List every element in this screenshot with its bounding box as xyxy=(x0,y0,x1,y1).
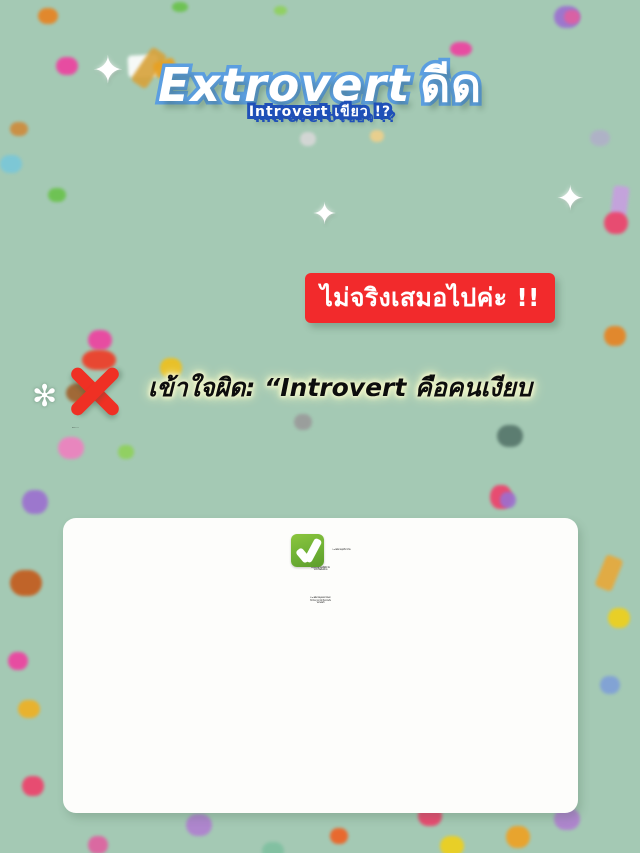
confetti-dot xyxy=(370,130,384,142)
green-check-icon xyxy=(291,534,324,567)
x-mark-icon xyxy=(64,360,126,422)
confetti-dot xyxy=(300,132,316,146)
info-card: I = พลังงานมุ่งเข้าภายใน ชอบอยู่กับตัวเอ… xyxy=(63,518,578,813)
confetti-dot xyxy=(22,490,48,514)
confetti-dot xyxy=(594,554,623,592)
confetti-dot xyxy=(10,570,42,596)
confetti-dot xyxy=(330,828,348,844)
confetti-dot xyxy=(604,212,628,234)
confetti-dot xyxy=(490,485,512,509)
title-line2-thai: เขียว !? xyxy=(334,104,391,120)
title-line1-thai: ดีด xyxy=(420,58,482,112)
confetti-dot xyxy=(48,188,66,202)
sparkle-icon: ✻ xyxy=(32,382,57,412)
confetti-dot xyxy=(450,42,472,56)
misconception-decorations: ✻ xyxy=(30,368,148,424)
confetti-dot xyxy=(58,437,84,459)
card-block-introvert: I = พลังงานมุ่งเข้าภายใน ชอบอยู่กับตัวเอ… xyxy=(77,534,564,571)
confetti-dot xyxy=(554,6,580,28)
sparkle-icon: ✦ xyxy=(556,182,585,216)
introvert-line-1: I = พลังงานมุ่งเข้าภายใน xyxy=(333,549,351,551)
confetti-dot xyxy=(88,330,112,350)
card-block-extrovert: E = พลังงานมุ่งออกภายนอก รีชาร์จจากการทำ… xyxy=(77,597,564,604)
sparkle-icon: ✦ xyxy=(312,200,337,230)
poster-canvas: ✦✦✦ Extrovertดีด Introvert เขียว !? ไม่จ… xyxy=(0,0,640,853)
confetti-dot xyxy=(500,492,516,508)
confetti-dot xyxy=(88,836,108,853)
introvert-line-1-row: I = พลังงานมุ่งเข้าภายใน xyxy=(77,534,564,567)
confetti-dot xyxy=(18,700,40,718)
red-banner: ไม่จริงเสมอไปค่ะ !! xyxy=(305,273,555,323)
misconception-block: ✻ เข้าใจผิด: “Introvert คือคนเงียบ Extro… xyxy=(0,368,640,429)
confetti-dot xyxy=(506,826,530,848)
confetti-dot xyxy=(610,185,630,217)
confetti-dot xyxy=(274,6,287,15)
confetti-dot xyxy=(604,326,626,346)
misconception-row: ✻ เข้าใจผิด: “Introvert คือคนเงียบ xyxy=(0,368,640,424)
confetti-dot xyxy=(0,155,22,173)
confetti-dot xyxy=(440,836,464,853)
title-block: Extrovertดีด Introvert เขียว !? xyxy=(0,62,640,120)
confetti-dot xyxy=(8,652,28,670)
confetti-dot xyxy=(38,8,58,24)
confetti-dot xyxy=(172,2,188,12)
confetti-dot xyxy=(608,608,630,628)
confetti-dot xyxy=(118,445,134,459)
title-line-2: Introvert เขียว !? xyxy=(0,105,640,120)
confetti-dot xyxy=(186,814,212,836)
confetti-dot xyxy=(22,776,44,796)
confetti-dot xyxy=(262,842,284,853)
confetti-dot xyxy=(10,122,28,136)
introvert-line-3: ไม่จำเป็นต้องขี้อาย xyxy=(77,569,564,571)
title-line2-english: Introvert xyxy=(249,104,329,120)
misconception-line-1: เข้าใจผิด: “Introvert คือคนเงียบ xyxy=(148,368,532,408)
confetti-dot xyxy=(600,676,620,694)
confetti-dot xyxy=(564,10,580,24)
red-banner-text: ไม่จริงเสมอไปค่ะ !! xyxy=(320,278,540,318)
extrovert-line-3: โลกรอบตัว xyxy=(77,602,564,604)
title-line-1: Extrovertดีด xyxy=(0,62,640,109)
confetti-dot xyxy=(590,130,610,146)
misconception-line-2: Extrovert คือคนชอบปาร์ตี้” xyxy=(0,428,640,429)
